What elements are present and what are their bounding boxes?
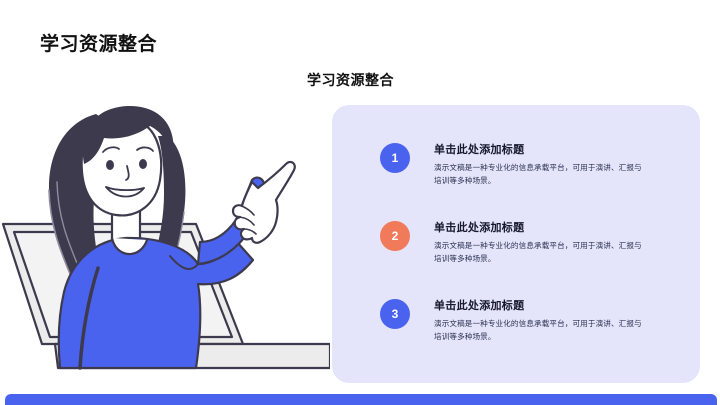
item-text-block: 单击此处添加标题 演示文稿是一种专业化的信息承载平台，可用于演讲、汇报与培训等多…	[434, 142, 648, 187]
item-body: 演示文稿是一种专业化的信息承载平台，可用于演讲、汇报与培训等多种场景。	[434, 240, 648, 265]
list-item[interactable]: 3 单击此处添加标题 演示文稿是一种专业化的信息承载平台，可用于演讲、汇报与培训…	[380, 298, 680, 343]
slide-canvas: 学习资源整合 学习资源整合 1 单击此处添加标题 演示文稿是一种专业化的信息承载…	[0, 0, 720, 405]
item-number-badge: 2	[380, 221, 410, 251]
item-title: 单击此处添加标题	[434, 143, 648, 157]
content-card: 1 单击此处添加标题 演示文稿是一种专业化的信息承载平台，可用于演讲、汇报与培训…	[332, 105, 700, 383]
item-number-badge: 3	[380, 299, 410, 329]
list-item[interactable]: 1 单击此处添加标题 演示文稿是一种专业化的信息承载平台，可用于演讲、汇报与培训…	[380, 142, 680, 187]
bottom-accent-bar	[5, 394, 717, 405]
item-text-block: 单击此处添加标题 演示文稿是一种专业化的信息承载平台，可用于演讲、汇报与培训等多…	[434, 220, 648, 265]
item-title: 单击此处添加标题	[434, 221, 648, 235]
item-body: 演示文稿是一种专业化的信息承载平台，可用于演讲、汇报与培训等多种场景。	[434, 318, 648, 343]
woman-pointing-from-laptop-illustration	[0, 78, 330, 373]
section-title: 学习资源整合	[307, 70, 394, 90]
item-text-block: 单击此处添加标题 演示文稿是一种专业化的信息承载平台，可用于演讲、汇报与培训等多…	[434, 298, 648, 343]
page-title: 学习资源整合	[40, 29, 157, 56]
list-item[interactable]: 2 单击此处添加标题 演示文稿是一种专业化的信息承载平台，可用于演讲、汇报与培训…	[380, 220, 680, 265]
item-body: 演示文稿是一种专业化的信息承载平台，可用于演讲、汇报与培训等多种场景。	[434, 162, 648, 187]
item-title: 单击此处添加标题	[434, 299, 648, 313]
item-number-badge: 1	[380, 143, 410, 173]
